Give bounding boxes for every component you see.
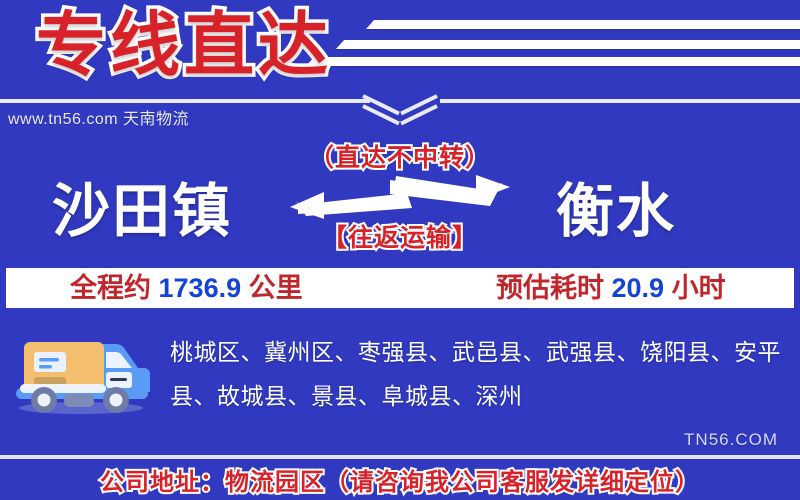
distance-unit: 公里: [249, 273, 303, 303]
duration-stat: 预估耗时 20.9 小时: [496, 268, 726, 308]
distance-label: 全程约: [70, 273, 151, 303]
divider-line-left: [0, 99, 370, 103]
decorative-stripe-3: [306, 57, 800, 66]
stats-band: 全程约 1736.9 公里 预估耗时 20.9 小时: [6, 268, 794, 308]
delivery-truck-icon: [6, 318, 156, 418]
headline-title: 专线直达: [36, 2, 332, 88]
company-address-label: 公司地址：物流园区（请咨询我公司客服发详细定位）: [0, 462, 800, 497]
round-trip-badge: 【往返运输】: [295, 218, 505, 254]
duration-label: 预估耗时: [496, 273, 604, 303]
distance-stat: 全程约 1736.9 公里: [70, 268, 303, 308]
coverage-area-list: 桃城区、冀州区、枣强县、武邑县、武强县、饶阳县、安平县、故城县、景县、阜城县、深…: [170, 330, 786, 418]
logistics-banner: 专线直达 www.tn56.com 天南物流 沙田镇 衡水 （直达不中转） 【往…: [0, 0, 800, 500]
watermark-label: TN56.COM: [684, 430, 778, 450]
footer-divider: [0, 455, 800, 459]
distance-value: 1736.9: [159, 273, 242, 303]
decorative-stripe-2: [336, 40, 800, 49]
two-way-arrow-icon: [290, 174, 510, 220]
duration-value: 20.9: [612, 273, 665, 303]
chevron-down-icon: [365, 90, 435, 124]
destination-city: 衡水: [556, 164, 676, 248]
duration-unit: 小时: [672, 273, 726, 303]
origin-city: 沙田镇: [52, 164, 232, 248]
direct-service-badge: （直达不中转）: [295, 138, 505, 174]
site-url-label: www.tn56.com 天南物流: [8, 105, 189, 129]
decorative-stripe-1: [366, 20, 800, 29]
divider-line-right: [440, 99, 800, 103]
